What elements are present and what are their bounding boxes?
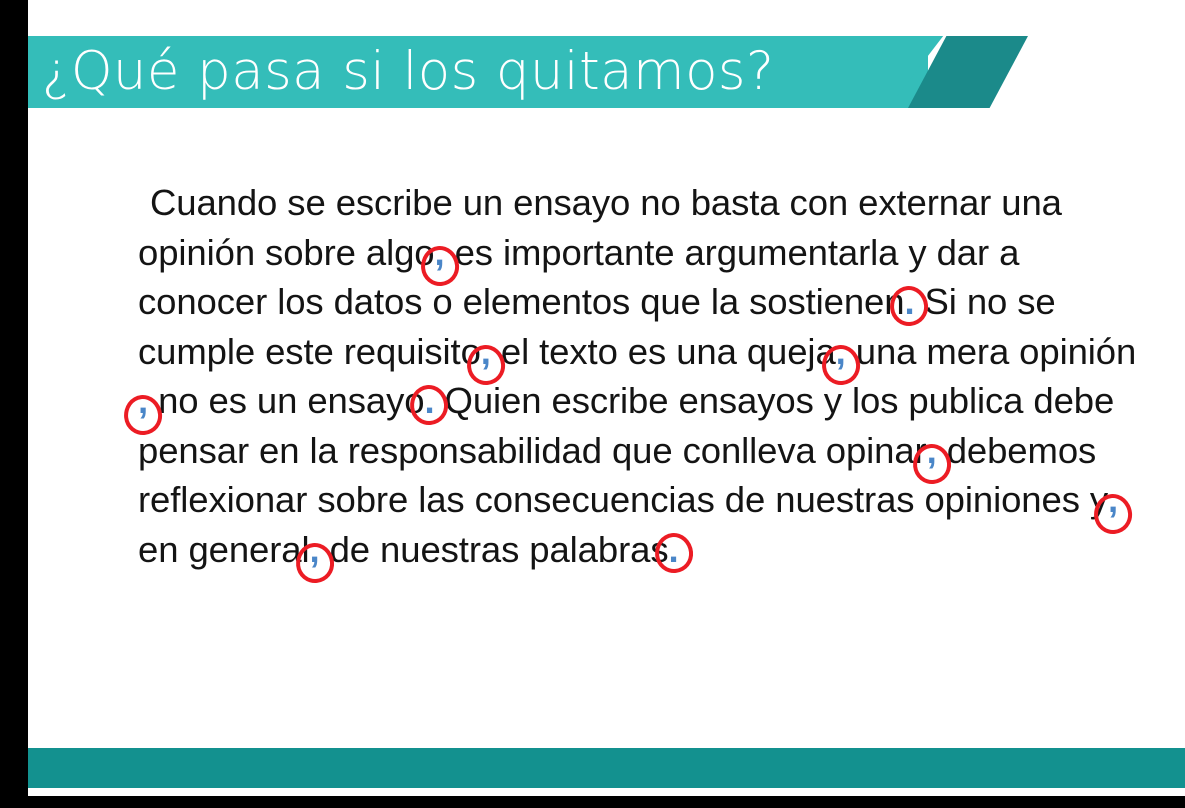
- punctuation-glyph: ,: [435, 232, 445, 273]
- marked-punctuation-comma: ,: [310, 525, 320, 575]
- marked-punctuation-comma: ,: [927, 426, 937, 476]
- punctuation-glyph: ,: [927, 430, 937, 471]
- marked-punctuation-comma: ,: [138, 376, 148, 426]
- body-text-run: el texto es una queja: [491, 331, 836, 372]
- slide-canvas: ¿Qué pasa si los quitamos? Cuando se esc…: [28, 0, 1185, 796]
- marked-punctuation-period: .: [669, 525, 679, 575]
- punctuation-glyph: ,: [310, 529, 320, 570]
- slide-body-text: Cuando se escribe un ensayo no basta con…: [138, 178, 1143, 574]
- punctuation-glyph: ,: [1108, 479, 1118, 520]
- bottom-accent-band: [28, 748, 1185, 788]
- slide-title: ¿Qué pasa si los quitamos?: [42, 36, 922, 108]
- marked-punctuation-comma: ,: [836, 327, 846, 377]
- punctuation-glyph: .: [669, 529, 679, 570]
- marked-punctuation-period: .: [424, 376, 434, 426]
- body-text-run: una mera opinión: [846, 331, 1137, 372]
- body-text-run: en general: [138, 529, 310, 570]
- body-text-run: de nuestras palabras: [320, 529, 669, 570]
- marked-punctuation-comma: ,: [435, 228, 445, 278]
- marked-punctuation-comma: ,: [1108, 475, 1118, 525]
- punctuation-glyph: .: [904, 281, 914, 322]
- marked-punctuation-period: .: [904, 277, 914, 327]
- punctuation-glyph: ,: [481, 331, 491, 372]
- punctuation-glyph: ,: [836, 331, 846, 372]
- marked-punctuation-comma: ,: [481, 327, 491, 377]
- slide-frame: ¿Qué pasa si los quitamos? Cuando se esc…: [0, 0, 1185, 808]
- punctuation-glyph: ,: [138, 380, 148, 421]
- body-text-run: no es un ensayo: [148, 380, 424, 421]
- punctuation-glyph: .: [424, 380, 434, 421]
